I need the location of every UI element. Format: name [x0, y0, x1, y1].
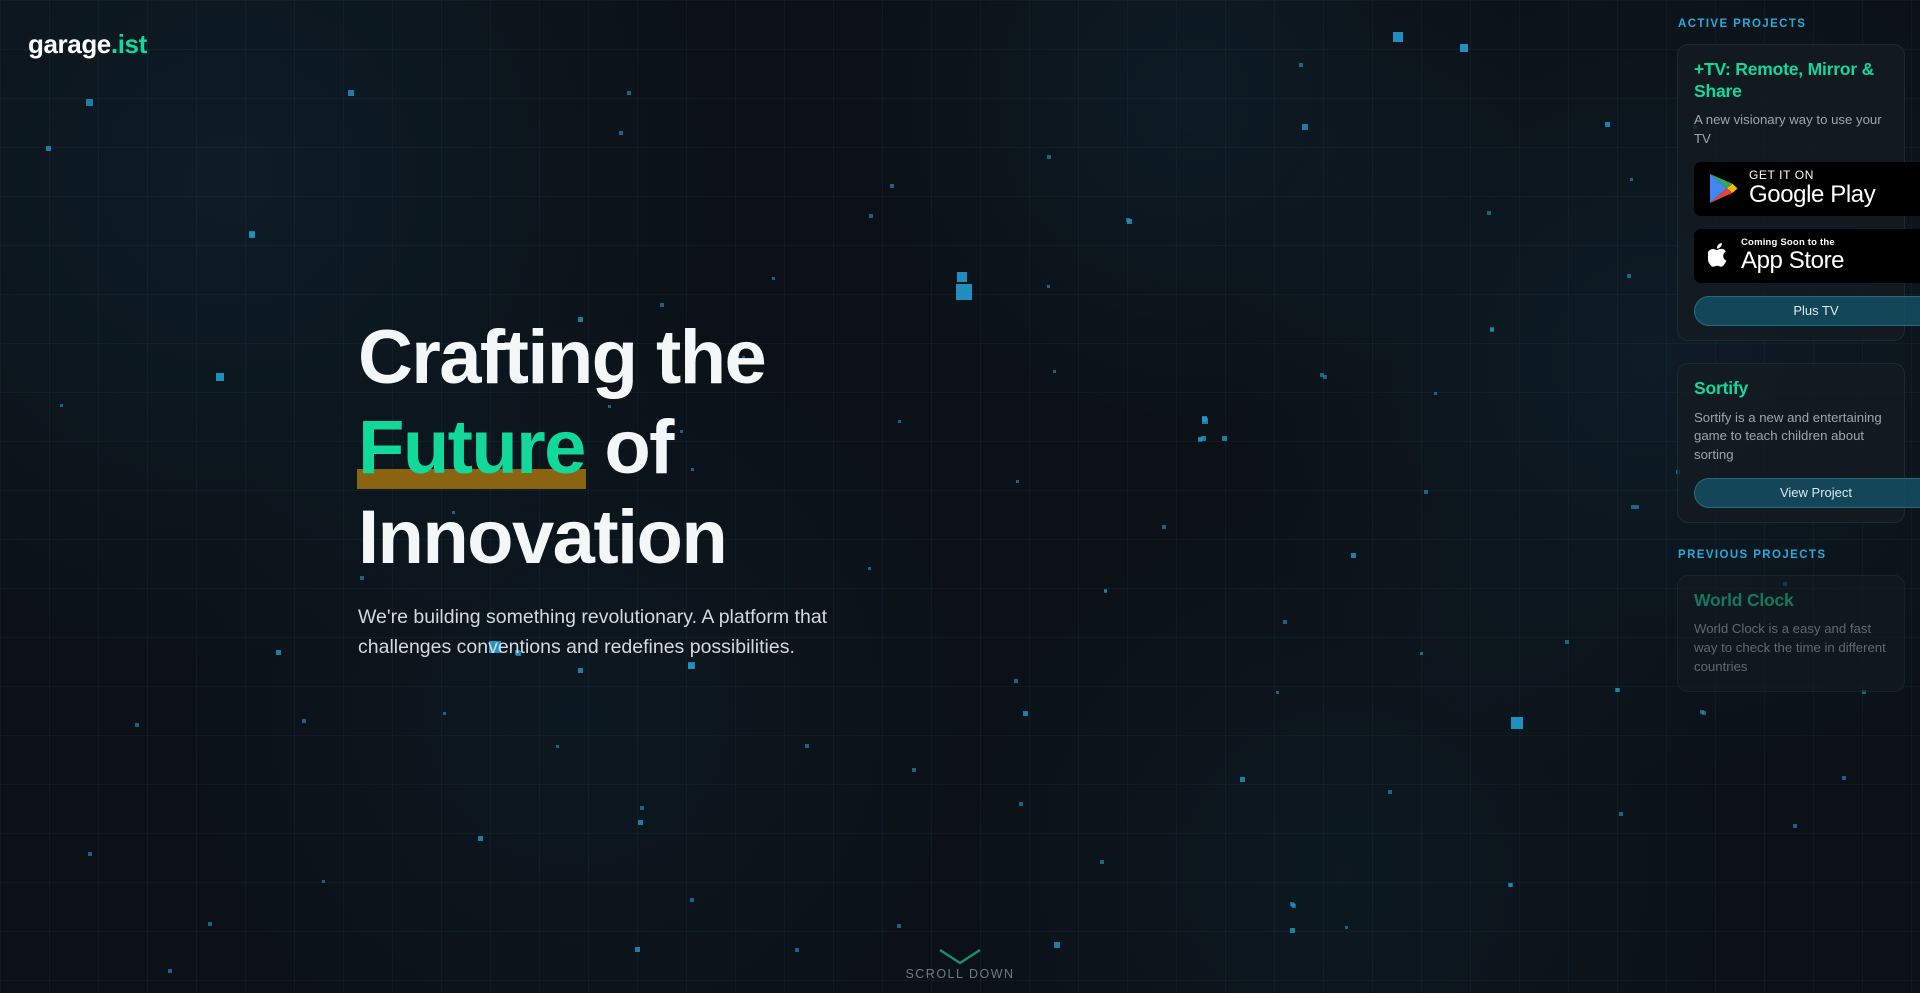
- hero-line-2-rest: of: [585, 405, 673, 490]
- particle: [1198, 437, 1202, 441]
- particle: [1351, 553, 1356, 558]
- particle: [1047, 285, 1050, 288]
- particle: [627, 91, 631, 95]
- particle: [1460, 44, 1468, 52]
- particle: [897, 924, 901, 928]
- particle: [1100, 860, 1104, 864]
- particle: [1511, 717, 1523, 729]
- particle: [1345, 926, 1348, 929]
- particle: [1014, 679, 1018, 683]
- particle: [578, 668, 583, 673]
- particle: [1162, 525, 1166, 529]
- particle: [1320, 373, 1324, 377]
- hero-heading: Crafting the Future of Innovation: [358, 320, 998, 576]
- particle: [956, 284, 972, 300]
- google-play-badge[interactable]: GET IT ON Google Play: [1694, 162, 1920, 216]
- particle: [1420, 652, 1423, 655]
- particle: [912, 768, 916, 772]
- particle: [1240, 777, 1245, 782]
- particle: [957, 272, 967, 282]
- particle: [1104, 590, 1107, 593]
- particle: [1290, 928, 1295, 933]
- particle: [1509, 883, 1513, 887]
- particle: [216, 373, 224, 381]
- project-card-world-clock[interactable]: World Clock World Clock is a easy and fa…: [1677, 575, 1905, 692]
- particle: [1487, 211, 1491, 215]
- app-store-text: Coming Soon to the App Store: [1741, 238, 1844, 274]
- particle: [135, 723, 139, 727]
- particle: [1424, 490, 1428, 494]
- particle: [660, 303, 664, 307]
- particle: [1302, 124, 1308, 130]
- particle: [869, 214, 873, 218]
- particle: [1016, 480, 1019, 483]
- app-store-big: App Store: [1741, 248, 1844, 274]
- project-card-sortify[interactable]: Sortify Sortify is a new and entertainin…: [1677, 363, 1905, 523]
- particle: [1619, 812, 1623, 816]
- hero-line-1: Crafting the: [358, 320, 998, 396]
- particle: [1053, 370, 1056, 373]
- project-title: +TV: Remote, Mirror & Share: [1694, 59, 1888, 102]
- particle: [1222, 436, 1227, 441]
- particle: [619, 131, 623, 135]
- google-play-big: Google Play: [1749, 182, 1875, 208]
- particle: [1627, 274, 1631, 278]
- particle: [1630, 178, 1633, 181]
- particle: [60, 404, 63, 407]
- logo-accent: .ist: [111, 29, 147, 59]
- particle: [1631, 505, 1635, 509]
- particle: [1393, 32, 1403, 42]
- particle: [1019, 802, 1023, 806]
- particle: [556, 745, 559, 748]
- particle: [1616, 688, 1620, 692]
- project-description: Sortify is a new and entertaining game t…: [1694, 409, 1888, 465]
- google-play-icon: [1708, 173, 1738, 205]
- particle: [1202, 417, 1207, 422]
- particle: [276, 650, 281, 655]
- particle: [302, 719, 306, 723]
- hero-line-2: Future of: [358, 410, 998, 486]
- scroll-down-indicator[interactable]: SCROLL DOWN: [0, 948, 1920, 981]
- particle: [322, 880, 325, 883]
- particle: [1635, 505, 1639, 509]
- projects-sidebar: ACTIVE PROJECTS +TV: Remote, Mirror & Sh…: [1677, 0, 1920, 993]
- scroll-down-label: SCROLL DOWN: [905, 967, 1014, 981]
- particle: [1299, 63, 1303, 67]
- particle: [86, 99, 93, 106]
- hero-highlight-wrap: Future: [358, 410, 585, 486]
- particle: [46, 146, 51, 151]
- particle: [1434, 392, 1437, 395]
- apple-icon: [1708, 242, 1730, 269]
- particle: [1490, 328, 1494, 332]
- particle: [688, 663, 694, 669]
- particle: [1565, 640, 1569, 644]
- particle: [690, 898, 694, 902]
- hero-section: Crafting the Future of Innovation We're …: [358, 320, 998, 662]
- app-store-badge[interactable]: Coming Soon to the App Store: [1694, 229, 1920, 283]
- particle: [890, 184, 894, 188]
- project-description: A new visionary way to use your TV: [1694, 111, 1888, 148]
- plus-tv-cta-button[interactable]: Plus TV: [1694, 296, 1920, 326]
- particle: [805, 744, 809, 748]
- particle: [443, 712, 446, 715]
- logo-name: garage: [28, 29, 111, 59]
- project-description: World Clock is a easy and fast way to ch…: [1694, 620, 1888, 676]
- particle: [208, 922, 212, 926]
- particle: [1283, 620, 1287, 624]
- particle: [478, 836, 483, 841]
- particle: [1388, 790, 1392, 794]
- hero-subtitle: We're building something revolutionary. …: [358, 602, 858, 662]
- particle: [249, 232, 255, 238]
- previous-projects-label: PREVIOUS PROJECTS: [1677, 549, 1920, 561]
- project-card-plus-tv[interactable]: +TV: Remote, Mirror & Share A new vision…: [1677, 44, 1905, 341]
- particle: [772, 277, 775, 280]
- site-logo[interactable]: garage.ist: [28, 29, 147, 60]
- particle: [1292, 904, 1296, 908]
- particle: [348, 90, 354, 96]
- hero-line-3: Innovation: [358, 500, 998, 576]
- particle: [1127, 219, 1132, 224]
- hero-highlight-word: Future: [358, 405, 585, 490]
- chevron-down-icon: [938, 948, 982, 965]
- project-title: Sortify: [1694, 378, 1888, 400]
- particle: [1605, 122, 1610, 127]
- particle: [1047, 155, 1051, 159]
- particle: [638, 820, 643, 825]
- particle: [1023, 711, 1028, 716]
- sortify-cta-button[interactable]: View Project: [1694, 478, 1920, 508]
- active-projects-label: ACTIVE PROJECTS: [1677, 18, 1920, 30]
- google-play-text: GET IT ON Google Play: [1749, 169, 1875, 208]
- particle: [640, 806, 644, 810]
- project-title: World Clock: [1694, 590, 1888, 612]
- particle: [1276, 691, 1279, 694]
- particle: [88, 852, 92, 856]
